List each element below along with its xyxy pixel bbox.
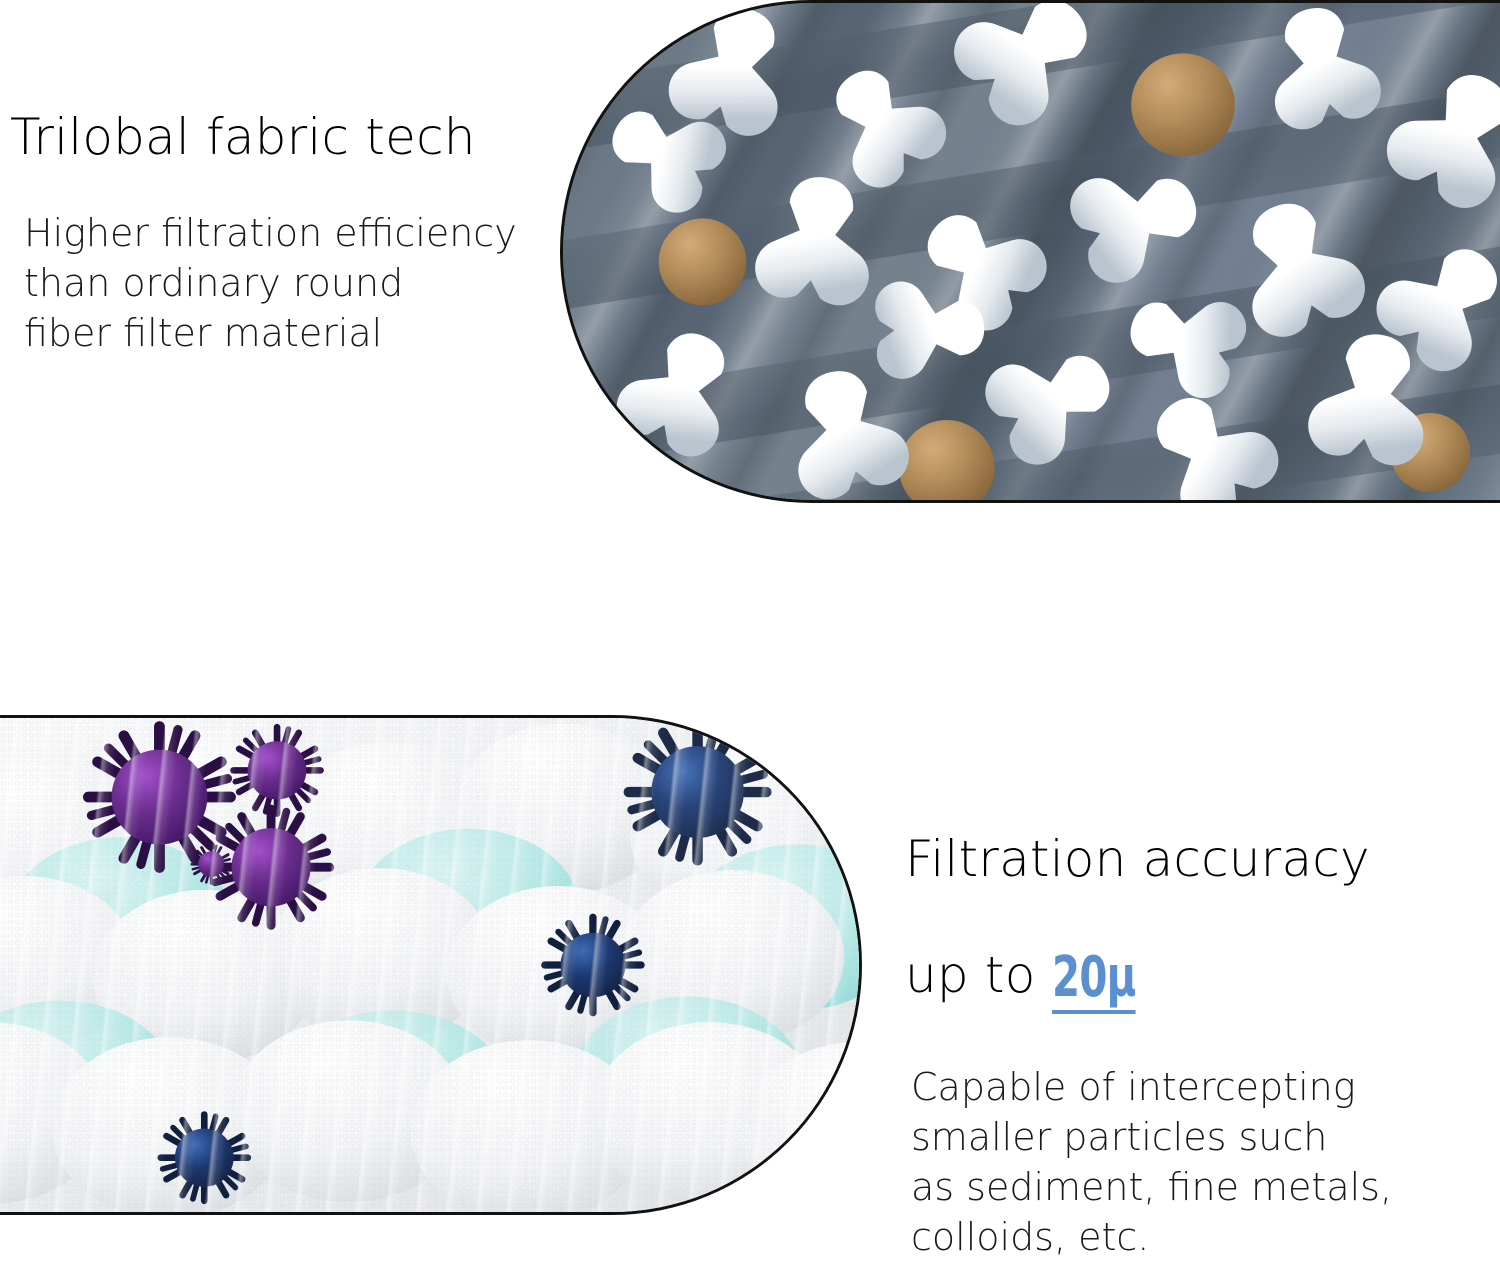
trilobal-body-text: Higher filtration efficiency than ordina… — [24, 208, 570, 358]
accuracy-heading-prefix: up to — [905, 946, 1052, 1004]
fiber-scene-background — [563, 3, 1500, 500]
trilobal-copy-block: Trilobal fabric tech Higher filtration e… — [10, 108, 570, 358]
mesh-scene-background — [0, 718, 859, 1212]
particle-interception-image-panel — [0, 715, 862, 1215]
accuracy-heading-line1: Filtration accuracy — [905, 830, 1370, 888]
filtration-accuracy-value: 20µ — [1052, 950, 1136, 1014]
trilobal-fiber-image-panel — [560, 0, 1500, 503]
trilobal-heading: Trilobal fabric tech — [10, 108, 570, 166]
measure-value-wrap: 20µ — [1052, 946, 1170, 1014]
accuracy-body-text: Capable of intercepting smaller particle… — [911, 1062, 1485, 1262]
accuracy-copy-block: Filtration accuracy up to 20µ Capable of… — [905, 772, 1485, 1262]
accuracy-heading: Filtration accuracy up to 20µ — [905, 772, 1485, 1014]
trilobal-fiber-illustration — [563, 3, 1500, 500]
water-flow-streaks — [0, 718, 859, 1212]
